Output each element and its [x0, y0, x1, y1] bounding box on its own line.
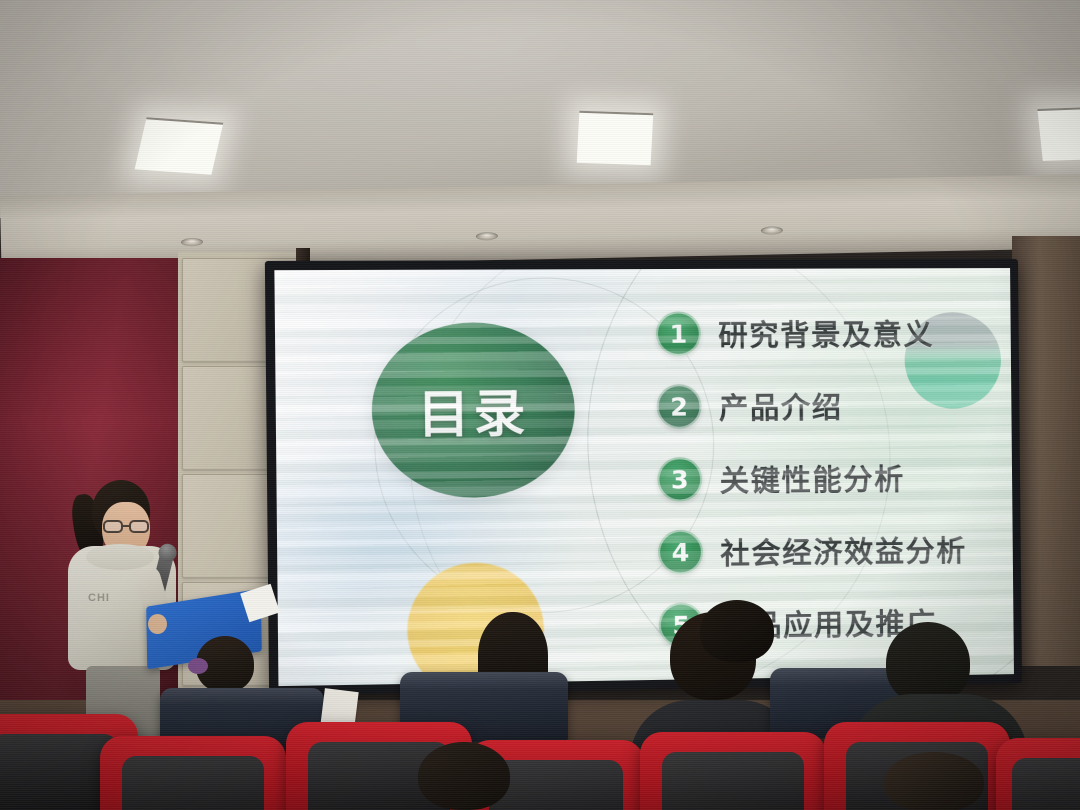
audience-6-head: [418, 742, 510, 810]
toc-item-3: 3 关键性能分析: [657, 440, 991, 516]
seat-red-7: [996, 738, 1080, 810]
audience-7: [884, 752, 988, 810]
audience-4: [700, 600, 776, 662]
presenter-hood: [86, 544, 154, 570]
downlight-1: [181, 238, 203, 246]
audience-4-head: [700, 600, 774, 662]
seat-red-5: [640, 732, 826, 810]
downlight-3: [761, 226, 783, 234]
presenter-hoodie-logo: CHI: [88, 592, 122, 608]
presenter-hand: [148, 614, 167, 634]
lecture-hall-photo: 目录 1 研究背景及意义 2 产品介绍 3 关键性能分析 4: [0, 0, 1080, 810]
ceiling-panel-light-2: [577, 111, 654, 166]
toc-label-4: 社会经济效益分析: [720, 528, 967, 573]
audience-5-head: [886, 622, 970, 704]
ceiling-panel-light-3: [1037, 107, 1080, 161]
ceiling-panel-light-1: [135, 117, 224, 174]
audience-7-head: [884, 752, 984, 810]
presenter-glasses: [103, 520, 151, 533]
toc-item-1: 1 研究背景及意义: [656, 296, 990, 370]
toc-item-4: 4 社会经济效益分析: [658, 512, 992, 589]
toc-item-2: 2 产品介绍: [656, 368, 990, 443]
seat-red-2: [100, 736, 286, 810]
audience-1-hair-tie: [188, 658, 208, 674]
toc-badge-1: 1: [656, 311, 701, 356]
downlight-2: [476, 232, 498, 240]
audience-6: [418, 742, 514, 810]
toc-heading-text: 目录: [417, 373, 529, 447]
toc-badge-3: 3: [657, 457, 702, 502]
right-wall: [1012, 236, 1080, 666]
toc-label-3: 关键性能分析: [719, 456, 905, 500]
toc-label-1: 研究背景及意义: [718, 311, 934, 354]
toc-label-2: 产品介绍: [719, 384, 843, 427]
toc-badge-4: 4: [658, 530, 703, 575]
toc-badge-2: 2: [656, 384, 701, 429]
